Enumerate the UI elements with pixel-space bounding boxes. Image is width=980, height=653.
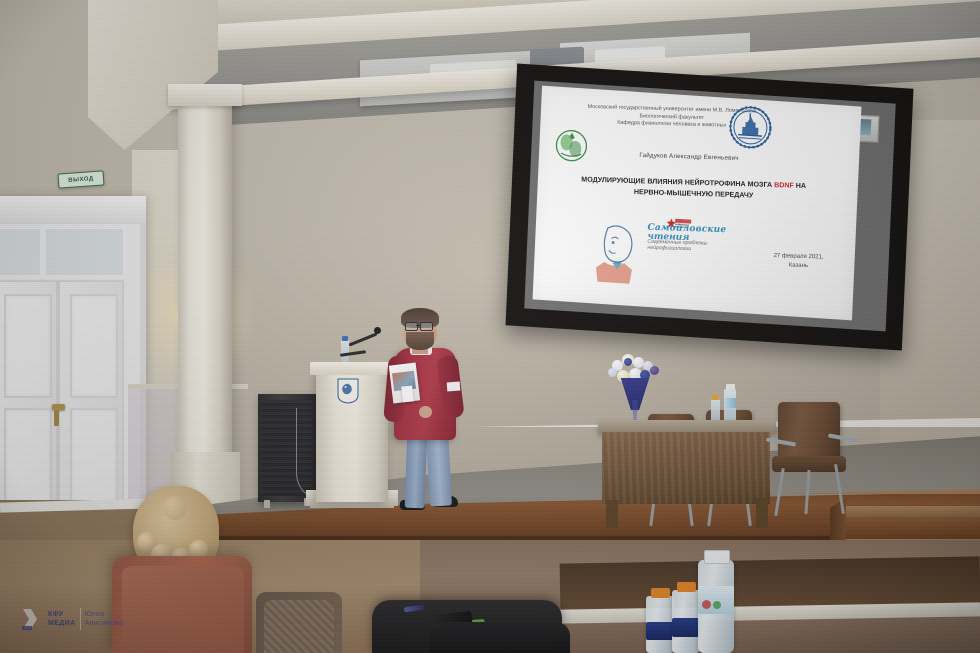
table-leg [606, 500, 618, 528]
media-logo-icon [22, 607, 44, 631]
bottle-cap [712, 395, 719, 400]
transom-mullion [40, 226, 46, 278]
watermark-brand-line1: КФУ [48, 610, 76, 619]
presentation-slide: Московский государственный университет и… [533, 86, 862, 321]
microphone-head [374, 327, 381, 334]
chair-backrest[interactable] [778, 402, 840, 460]
photo-watermark: КФУ МЕДИА Юлия Анисимова [22, 604, 148, 634]
exit-sign: ВЫХОД [58, 170, 105, 188]
slide-title-post: НА [794, 182, 806, 190]
door-panel [70, 294, 118, 398]
bottle-cap [704, 550, 730, 564]
bottle-label [698, 586, 734, 614]
bottle-cap [677, 582, 696, 592]
bottle-label [724, 398, 736, 408]
audience-chair-fabric [264, 600, 334, 653]
university-crest-icon [337, 378, 359, 404]
podium-top [310, 362, 394, 375]
conference-branding: Самойловские чтения Современные проблемы… [647, 223, 757, 254]
exit-sign-label: ВЫХОД [68, 176, 94, 184]
watermark-divider [80, 608, 81, 630]
bottle-cap [726, 384, 735, 390]
pilaster-capital [168, 84, 242, 106]
watermark-credit: Юлия Анисимова [85, 610, 124, 628]
presenter-leg [405, 430, 428, 509]
door-leaf-right[interactable] [58, 280, 124, 526]
presenter-glasses-icon [405, 322, 435, 329]
conference-hall-photograph: ВЫХОД Московский государственный универс… [0, 0, 980, 653]
watermark-brand: КФУ МЕДИА [48, 610, 76, 628]
presenter-badge [447, 382, 461, 392]
slide-date-location: 27 февраля 2021, Казань [758, 252, 838, 272]
door-leaf-left[interactable] [0, 280, 58, 526]
presenter-hand [419, 406, 432, 418]
speaker-foot [264, 500, 270, 508]
watermark-credit-line1: Юлия [85, 610, 124, 619]
door-handle[interactable] [54, 410, 59, 426]
presenter-leg [426, 429, 452, 506]
presenter-badge [401, 385, 414, 402]
samoylov-portrait-icon [591, 219, 646, 286]
door-header [0, 196, 146, 224]
bottle-cap [342, 336, 348, 341]
slide-author-name: Гайдуков Александр Евгеньевич [609, 151, 769, 163]
watermark-brand-line2: МЕДИА [48, 619, 76, 628]
bottle-label [646, 622, 674, 640]
slide-title-highlight: BDNF [774, 181, 794, 190]
watermark-credit-line2: Анисимова [85, 619, 124, 628]
msu-emblem-icon [727, 104, 773, 151]
biology-faculty-emblem-icon [553, 123, 591, 167]
table-leg [756, 498, 768, 528]
bottle-cap [651, 588, 670, 598]
slide-title: МОДУЛИРУЮЩИЕ ВЛИЯНИЯ НЕЙРОТРОФИНА МОЗГА … [544, 173, 844, 204]
slide-city: Казань [758, 261, 838, 272]
audience-table-second [430, 622, 570, 653]
table-wood-grain [602, 432, 770, 504]
door-panel [4, 294, 52, 398]
transom-window [0, 226, 126, 278]
bottle-label [672, 618, 700, 637]
presenter-beard [406, 332, 434, 350]
